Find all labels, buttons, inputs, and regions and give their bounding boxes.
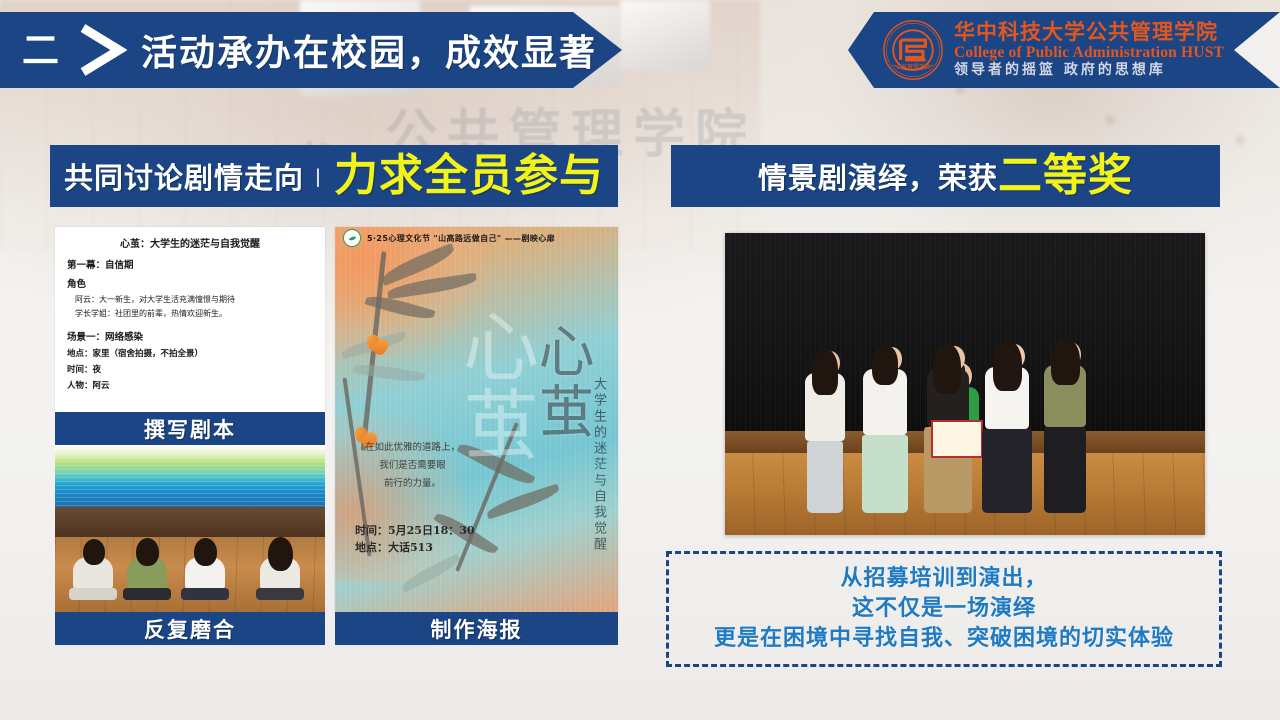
person-hair [872,345,898,385]
person-hair [812,349,838,395]
poster-header-text: 5·25心理文化节 "山高路远做自己" ——剧映心扉 [367,233,555,244]
person-hair [993,341,1022,391]
poster-quote-line-2: 我们是否需要眼 [365,457,460,475]
logo-slogan: 领导者的摇篮 政府的思想库 [954,62,1224,80]
callout-line-1: 从招募培训到演出， [840,564,1047,594]
caption-poster: 制作海报 [335,612,618,645]
hust-seal-icon: 公共管理学院 [882,19,944,81]
logo-text-block: 华中科技大学公共管理学院 College of Public Administr… [954,20,1224,80]
person-lower [982,429,1032,513]
caption-rehearsal-label: 反复磨合 [144,614,236,644]
rehearsal-person-4 [260,541,304,600]
poster-image: 5·25心理文化节 "山高路远做自己" ——剧映心扉 心茧 心茧 大学生的迷茫与… [335,227,618,612]
caption-script: 撰写剧本 [55,412,325,445]
script-doc-time: 时间：夜 [67,363,313,375]
rehearsal-stage-wall [55,507,325,537]
rehearsal-photo [55,445,325,612]
rehearsal-led-screen [55,445,325,507]
award-person-2 [875,347,908,513]
person-hair [136,538,159,566]
person-lower [807,441,843,513]
banner-right-yellow-text: 二等奖 [998,154,1133,198]
script-doc-title: 心茧：大学生的迷茫与自我觉醒 [67,235,313,250]
award-certificate [931,420,983,458]
script-doc-people: 人物：阿云 [67,379,313,391]
person-hair [268,537,293,571]
person-hair [83,539,105,565]
award-person-3-certificate-holder [937,346,972,513]
banner-left-white-text: 共同讨论剧情走向 [64,155,304,197]
person-legs [181,588,229,600]
caption-poster-label: 制作海报 [431,614,523,644]
svg-text:公共管理学院: 公共管理学院 [896,63,930,71]
poster-time: 时间：5月25日18：30 [355,523,475,540]
banner-left-yellow-text: 力求全员参与 [334,154,604,198]
banner-left-separator: 丨 [308,162,328,191]
poster-place: 地点：大话513 [355,540,475,557]
rehearsal-person-1 [73,541,117,600]
script-doc-place: 地点：家里（宿舍拍摄，不拍全景） [67,347,313,359]
logo-name-cn: 华中科技大学公共管理学院 [954,20,1224,43]
script-document-image: 心茧：大学生的迷茫与自我觉醒 第一幕：自信期 角色 阿云：大一新生，对大学生活充… [55,227,325,412]
poster-info: 时间：5月25日18：30 地点：大话513 [355,523,475,556]
award-person-5 [1055,342,1086,513]
festival-logo-icon [343,229,361,247]
page-title: 活动承办在校园，成效显著 [141,24,597,76]
poster-quote-line-1: 在如此优雅的道路上， [365,439,460,457]
person-hair [933,344,961,394]
chevron-right-icon [75,23,127,77]
script-doc-roles-label: 角色 [67,276,313,290]
award-group-photo [725,233,1205,535]
poster-quote-line-3: 前行的力量。 [365,475,460,493]
person-legs [256,588,304,600]
poster-subtitle: 大学生的迷茫与自我觉醒 [589,377,608,553]
summary-callout-box: 从招募培训到演出， 这不仅是一场演绎 更是在困境中寻找自我、突破困境的切实体验 [666,551,1222,667]
poster-quote: 在如此优雅的道路上， 我们是否需要眼 前行的力量。 [365,439,460,493]
callout-line-3: 更是在困境中寻找自我、突破困境的切实体验 [714,624,1174,654]
poster-title-ghost: 心茧 [456,307,532,463]
slide-root: 公共管理学院 ADMINISTRATION 二 活动承办在校园，成效显著 公共管… [0,0,1280,720]
banner-right-white-text: 情景剧演绎，荣获 [758,155,998,197]
person-lower [1044,427,1086,513]
award-person-4 [997,344,1032,513]
background-window-3 [620,0,710,70]
section-index: 二 [22,32,59,69]
script-doc-role-2: 学长学姐：社团里的前辈，热情欢迎新生。 [75,308,313,319]
person-lower [862,435,908,513]
caption-script-label: 撰写剧本 [144,414,236,444]
person-legs [123,588,171,600]
person-hair [194,538,217,566]
script-doc-role-1: 阿云：大一新生，对大学生活充满憧憬与期待 [75,294,313,305]
caption-rehearsal: 反复磨合 [55,612,325,645]
poster-header-row: 5·25心理文化节 "山高路远做自己" ——剧映心扉 [335,227,618,249]
institution-logo-ribbon: 公共管理学院 华中科技大学公共管理学院 College of Public Ad… [848,12,1280,88]
rehearsal-person-2 [127,541,171,600]
poster-title: 心茧 [531,322,590,442]
banner-right: 情景剧演绎，荣获 二等奖 [671,145,1220,207]
rehearsal-person-3 [185,541,229,600]
script-doc-scene: 场景一：网络感染 [67,329,313,343]
logo-name-en: College of Public Administration HUST [954,43,1224,62]
person-hair [1051,339,1080,385]
script-document-body: 心茧：大学生的迷茫与自我觉醒 第一幕：自信期 角色 阿云：大一新生，对大学生活充… [55,227,325,391]
script-doc-act: 第一幕：自信期 [67,257,313,271]
section-header-banner: 二 活动承办在校园，成效显著 [0,12,622,88]
person-legs [69,588,117,600]
award-person-1 [815,351,845,513]
callout-line-2: 这不仅是一场演绎 [852,594,1036,624]
banner-left: 共同讨论剧情走向 丨 力求全员参与 [50,145,618,207]
